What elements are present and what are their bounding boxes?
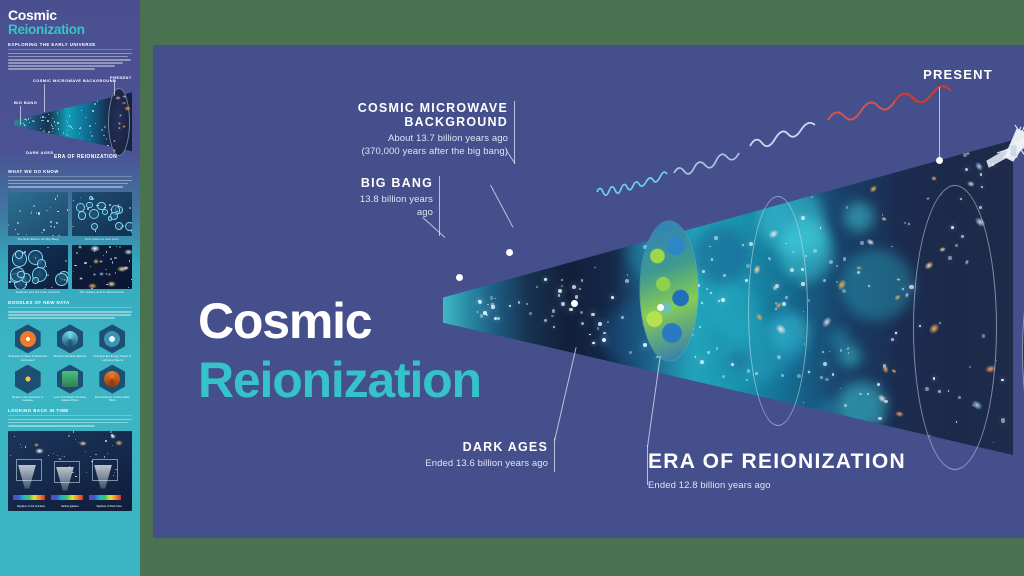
- star: [57, 211, 58, 212]
- star: [58, 128, 59, 130]
- galaxy-dot: [90, 245, 100, 252]
- star: [81, 137, 82, 139]
- sidebar-section-heading-3: DOODLES OF NEW DATA: [0, 300, 140, 305]
- star: [95, 123, 96, 124]
- star: [54, 121, 55, 123]
- star: [813, 249, 817, 253]
- star: [840, 349, 842, 351]
- star: [55, 198, 56, 200]
- star: [112, 445, 113, 446]
- star: [72, 128, 73, 129]
- star: [53, 453, 54, 454]
- star: [843, 257, 847, 261]
- galaxy-dot: [115, 96, 121, 101]
- galaxy-dot: [99, 260, 103, 263]
- star: [68, 125, 69, 127]
- star: [47, 247, 49, 248]
- star: [47, 274, 49, 276]
- leader-line-dark-ages: [554, 438, 555, 472]
- star: [747, 369, 750, 372]
- star: [37, 282, 38, 283]
- star: [1001, 418, 1005, 422]
- label-present: PRESENT: [898, 67, 1018, 82]
- nebula-glow: [693, 227, 749, 283]
- star: [699, 326, 701, 328]
- star: [692, 334, 694, 336]
- star: [90, 456, 91, 457]
- sidebar-paragraph-2: [0, 180, 140, 188]
- star: [46, 210, 48, 211]
- leader-line-big-bang: [439, 176, 440, 236]
- mini-label-era: ERA OF REIONIZATION: [54, 154, 117, 160]
- list-item[interactable]: Galaxies and the Ionic Universe: [8, 245, 68, 294]
- star: [904, 222, 906, 224]
- star: [625, 279, 629, 283]
- star: [30, 213, 32, 214]
- inset-frame: [92, 459, 118, 481]
- sidebar-paragraph-1: [0, 53, 140, 70]
- star: [74, 265, 76, 266]
- galaxy-dot: [881, 216, 888, 222]
- star: [40, 117, 41, 118]
- galaxy-dot: [865, 237, 875, 246]
- label-title: DARK AGES: [403, 440, 548, 454]
- hex-caption: Learn How Bright Old Early Galaxies Were: [50, 396, 89, 402]
- star: [85, 451, 86, 452]
- star: [491, 303, 493, 305]
- star: [109, 246, 111, 248]
- star: [67, 122, 69, 123]
- star: [52, 126, 53, 127]
- star: [710, 292, 712, 294]
- spectrum-bar: [89, 495, 121, 500]
- star: [801, 216, 804, 219]
- star: [20, 124, 21, 125]
- galaxy-dot: [121, 102, 127, 104]
- star: [66, 120, 67, 121]
- star: [129, 207, 130, 209]
- galaxy-dot: [118, 122, 121, 125]
- star: [836, 265, 838, 267]
- thumbnail-caption: The Eras Before the Big Bang: [8, 238, 68, 241]
- star: [87, 208, 89, 209]
- star: [58, 235, 59, 236]
- text-line: [8, 68, 95, 70]
- star: [63, 132, 64, 134]
- star: [128, 287, 129, 288]
- star: [48, 131, 50, 133]
- main-poster-panel: Cosmic Reionization COSMIC MICROWAVE BAC…: [153, 45, 1024, 538]
- star: [721, 298, 725, 302]
- space-telescope-icon: [983, 123, 1024, 183]
- sidebar-section-heading-2: WHAT WE DO KNOW: [0, 169, 140, 174]
- star: [107, 453, 108, 454]
- nebula-glow: [685, 404, 704, 423]
- star: [114, 257, 116, 259]
- label-subtitle-line1: 13.8 billion years ago: [343, 194, 433, 220]
- star: [104, 126, 105, 127]
- leader-line-dark-ages-diag: [554, 347, 577, 441]
- thumbnail-first-atoms: [72, 192, 132, 236]
- star: [709, 246, 710, 247]
- star: [718, 300, 719, 301]
- galaxy-dot: [78, 245, 83, 248]
- text-line: [8, 314, 131, 316]
- star: [17, 222, 19, 224]
- star: [829, 260, 833, 264]
- text-line: [8, 186, 123, 188]
- spectra-caption: Signature of black holes: [90, 505, 128, 508]
- star: [627, 274, 628, 275]
- star: [52, 128, 54, 129]
- star: [92, 110, 94, 111]
- star: [57, 122, 59, 123]
- star: [101, 129, 103, 131]
- galaxy-dot: [124, 106, 130, 110]
- spectrum-bar: [51, 495, 83, 500]
- star: [73, 431, 74, 432]
- mini-label-dark-ages: DARK AGES: [26, 150, 53, 155]
- star: [104, 456, 105, 457]
- ionized-bubble: [78, 211, 87, 220]
- star: [57, 112, 58, 114]
- star: [25, 446, 26, 447]
- star: [611, 296, 614, 299]
- eclipse-icon: [15, 324, 41, 353]
- list-item[interactable]: The Eras Before the Big Bang: [8, 192, 68, 241]
- hex-caption: Measure Gas Evolution in Galaxies: [8, 396, 47, 402]
- nebula-glow: [819, 400, 837, 418]
- star: [745, 279, 748, 282]
- sidebar-hex-icon-grid: Reheated as Mass of Reionized Component …: [0, 320, 140, 402]
- leader-line-big-bang-angle: [422, 217, 445, 238]
- label-title: BIG BANG: [343, 176, 433, 190]
- page-title-line1: Cosmic: [198, 295, 481, 348]
- hex-caption: Directly Individual Galaxies: [50, 355, 89, 358]
- label-cosmic-microwave-background: COSMIC MICROWAVE BACKGROUND About 13.7 b…: [353, 101, 508, 159]
- star: [94, 250, 95, 252]
- text-line: [8, 183, 128, 185]
- star: [561, 302, 565, 306]
- galaxy-dot: [124, 249, 132, 255]
- star: [26, 234, 27, 236]
- galaxy-dot: [119, 246, 121, 248]
- label-subtitle-line2: (370,000 years after the big bang): [353, 146, 508, 159]
- star: [823, 279, 827, 283]
- star: [526, 303, 529, 306]
- ionized-bubble: [17, 271, 24, 278]
- star: [122, 225, 123, 226]
- divider: [8, 49, 132, 50]
- star: [580, 311, 583, 314]
- galaxy-dot: [890, 368, 897, 374]
- star: [67, 209, 68, 211]
- star: [73, 200, 74, 201]
- thumbnail-caption: Galaxies and the Ionic Universe: [8, 291, 68, 294]
- star: [803, 402, 804, 403]
- galaxy-dot: [119, 114, 122, 117]
- star: [45, 117, 46, 118]
- star: [41, 232, 43, 233]
- list-item[interactable]: Directly Individual Galaxies: [50, 324, 89, 361]
- star: [112, 261, 113, 263]
- star: [840, 388, 841, 389]
- star: [67, 130, 68, 132]
- star: [89, 125, 91, 127]
- star: [69, 433, 70, 434]
- nebula-glow: [844, 202, 875, 233]
- mini-leader: [44, 84, 45, 112]
- text-line: [8, 56, 128, 58]
- label-title: COSMIC MICROWAVE BACKGROUND: [353, 101, 508, 129]
- leader-line-cmb-diag: [490, 185, 514, 228]
- star: [544, 319, 546, 321]
- thumbnail-caption: First Atoms to Ions Form: [72, 238, 132, 241]
- star: [21, 447, 22, 448]
- text-line: [8, 180, 132, 182]
- nebula-glow: [841, 249, 913, 321]
- galaxy-dot: [894, 410, 904, 418]
- sidebar-image-grid: The Eras Before the Big Bang First Atoms…: [0, 189, 140, 294]
- ionized-bubble: [91, 223, 99, 231]
- star: [72, 226, 73, 228]
- hex-caption: Reheated as Mass of Reionized Component: [8, 355, 47, 361]
- mini-endcap: [108, 88, 130, 156]
- star: [877, 383, 880, 386]
- sidebar-paragraph-4: [0, 419, 140, 427]
- star: [103, 255, 104, 256]
- star: [594, 267, 595, 268]
- star: [707, 351, 710, 354]
- label-title: ERA OF REIONIZATION: [648, 450, 908, 474]
- star: [552, 309, 556, 313]
- star: [57, 195, 58, 197]
- list-item[interactable]: Reheated as Mass of Reionized Component: [8, 324, 47, 361]
- star: [106, 251, 107, 252]
- star: [92, 198, 94, 200]
- list-item[interactable]: Strongest Era Energy Output of Luminous …: [93, 324, 132, 361]
- star: [75, 439, 76, 440]
- star: [116, 246, 117, 247]
- page-title-line2: Reionization: [198, 354, 481, 407]
- star: [518, 301, 520, 303]
- star: [509, 305, 512, 308]
- list-item[interactable]: First Evidence of Early Black Holes: [93, 365, 132, 402]
- text-line: [8, 62, 123, 64]
- star: [68, 435, 69, 436]
- list-item[interactable]: Measure Gas Evolution in Galaxies: [8, 365, 47, 402]
- list-item[interactable]: The Galaxy and Its Reionization: [72, 245, 132, 294]
- star: [109, 204, 111, 206]
- star: [572, 285, 576, 289]
- inset-frame: [54, 461, 80, 483]
- bolt-icon: [99, 324, 125, 353]
- star: [52, 131, 53, 132]
- thumbnail-galaxies: [72, 245, 132, 289]
- star: [621, 316, 624, 319]
- sparkle-icon: [15, 365, 41, 394]
- star: [33, 205, 35, 207]
- marker-node-cmb: [506, 249, 513, 256]
- star: [20, 444, 21, 445]
- marker-node-era: [657, 304, 664, 311]
- spectrum-bar: [13, 495, 45, 500]
- galaxy-dot: [107, 281, 116, 287]
- marker-node-present: [936, 157, 943, 164]
- thumbnail-caption: The Galaxy and Its Reionization: [72, 291, 132, 294]
- star: [908, 223, 910, 225]
- star: [67, 135, 68, 136]
- star: [65, 108, 66, 109]
- star: [891, 338, 894, 341]
- hex-caption: Strongest Era Energy Output of Luminous …: [93, 355, 132, 361]
- galaxy-dot: [113, 140, 116, 142]
- star: [602, 338, 606, 342]
- star: [55, 125, 56, 126]
- spectra-caption: Earliest galaxies: [52, 505, 88, 508]
- text-line: [8, 425, 95, 427]
- star: [823, 362, 827, 366]
- sidebar-title: Cosmic Reionization: [0, 0, 140, 37]
- mini-leader: [20, 106, 21, 124]
- galaxy-dot: [882, 364, 890, 374]
- star: [895, 332, 896, 333]
- leader-line-present: [939, 87, 940, 158]
- galaxy-dot: [122, 125, 126, 128]
- label-title: PRESENT: [898, 67, 1018, 82]
- star: [592, 342, 595, 345]
- galaxy-dot: [79, 441, 87, 447]
- divider: [8, 307, 132, 308]
- star: [607, 321, 609, 323]
- star: [859, 393, 862, 396]
- star: [43, 130, 45, 132]
- star: [722, 375, 725, 378]
- star: [64, 456, 65, 457]
- sidebar-poster-thumbnail[interactable]: Cosmic Reionization EXPLORING THE EARLY …: [0, 0, 140, 576]
- galaxy-dot: [122, 95, 127, 98]
- galaxy-dot: [35, 448, 44, 454]
- text-line: [8, 317, 115, 319]
- star: [40, 128, 41, 130]
- star: [9, 281, 11, 282]
- inset-frame: [16, 459, 42, 481]
- star: [90, 132, 91, 133]
- star: [581, 279, 583, 281]
- text-line: [8, 53, 132, 55]
- star: [131, 230, 132, 232]
- text-line: [8, 422, 128, 424]
- star: [558, 294, 560, 296]
- galaxy-dot: [93, 273, 96, 275]
- label-dark-ages: DARK AGES Ended 13.6 billion years ago: [403, 440, 548, 471]
- star: [76, 252, 78, 254]
- star: [90, 266, 91, 267]
- star: [43, 120, 45, 121]
- star: [89, 139, 91, 141]
- star: [104, 207, 106, 208]
- star: [591, 313, 595, 317]
- star: [8, 224, 9, 226]
- star: [91, 288, 93, 289]
- star: [561, 279, 563, 281]
- star: [494, 298, 495, 299]
- text-line: [8, 311, 132, 313]
- list-item[interactable]: First Atoms to Ions Form: [72, 192, 132, 241]
- star: [38, 212, 39, 214]
- star: [15, 229, 16, 230]
- sidebar-mini-lightcone-diagram: COSMIC MICROWAVE BACKGROUND BIG BANG PRE…: [6, 74, 134, 164]
- star: [24, 125, 26, 127]
- star: [28, 118, 29, 120]
- ionized-bubble: [32, 277, 39, 284]
- divider: [8, 176, 132, 177]
- star: [48, 455, 49, 456]
- star: [544, 278, 546, 280]
- star: [47, 120, 49, 122]
- star: [993, 442, 994, 443]
- spiral-icon: [57, 324, 83, 353]
- star: [569, 308, 573, 312]
- galaxy-dot: [99, 272, 104, 276]
- star: [95, 230, 96, 232]
- star: [62, 456, 63, 457]
- sidebar-section-heading-1: EXPLORING THE EARLY UNIVERSE: [0, 42, 140, 47]
- list-item[interactable]: Learn How Bright Old Early Galaxies Were: [50, 365, 89, 402]
- galaxy-dot: [79, 277, 83, 280]
- spectrum-icon: [57, 365, 83, 394]
- star: [30, 117, 31, 118]
- star: [868, 285, 870, 287]
- star: [551, 315, 554, 318]
- star: [73, 271, 75, 272]
- star: [129, 260, 130, 262]
- star: [105, 269, 106, 270]
- star: [131, 279, 132, 280]
- star: [23, 123, 24, 124]
- star: [103, 135, 105, 136]
- star: [860, 241, 864, 245]
- nebula-glow: [595, 384, 653, 442]
- star: [48, 114, 49, 115]
- text-line: [8, 59, 131, 61]
- thumbnail-early-universe: [8, 192, 68, 236]
- star: [825, 378, 828, 381]
- star: [536, 286, 538, 288]
- sidebar-title-line1: Cosmic: [8, 8, 132, 23]
- star: [581, 322, 584, 325]
- star: [79, 133, 80, 134]
- galaxy-dot: [855, 266, 861, 271]
- page-title: Cosmic Reionization: [198, 295, 481, 406]
- star: [706, 288, 708, 290]
- galaxy-dot: [113, 149, 116, 152]
- mini-label-big-bang: BIG BANG: [14, 100, 37, 105]
- star: [497, 317, 500, 320]
- star: [17, 233, 19, 235]
- label-subtitle-line1: About 13.7 billion years ago: [353, 133, 508, 146]
- star: [54, 226, 55, 228]
- star: [832, 373, 835, 376]
- hex-caption: First Evidence of Early Black Holes: [93, 396, 132, 402]
- galaxy-dot: [110, 434, 116, 439]
- star: [723, 274, 726, 277]
- nebula-glow: [623, 369, 669, 415]
- star: [701, 302, 702, 303]
- sidebar-spectra-panel: Signature of star formation Earliest gal…: [8, 431, 132, 511]
- star: [66, 280, 67, 282]
- star: [105, 440, 106, 441]
